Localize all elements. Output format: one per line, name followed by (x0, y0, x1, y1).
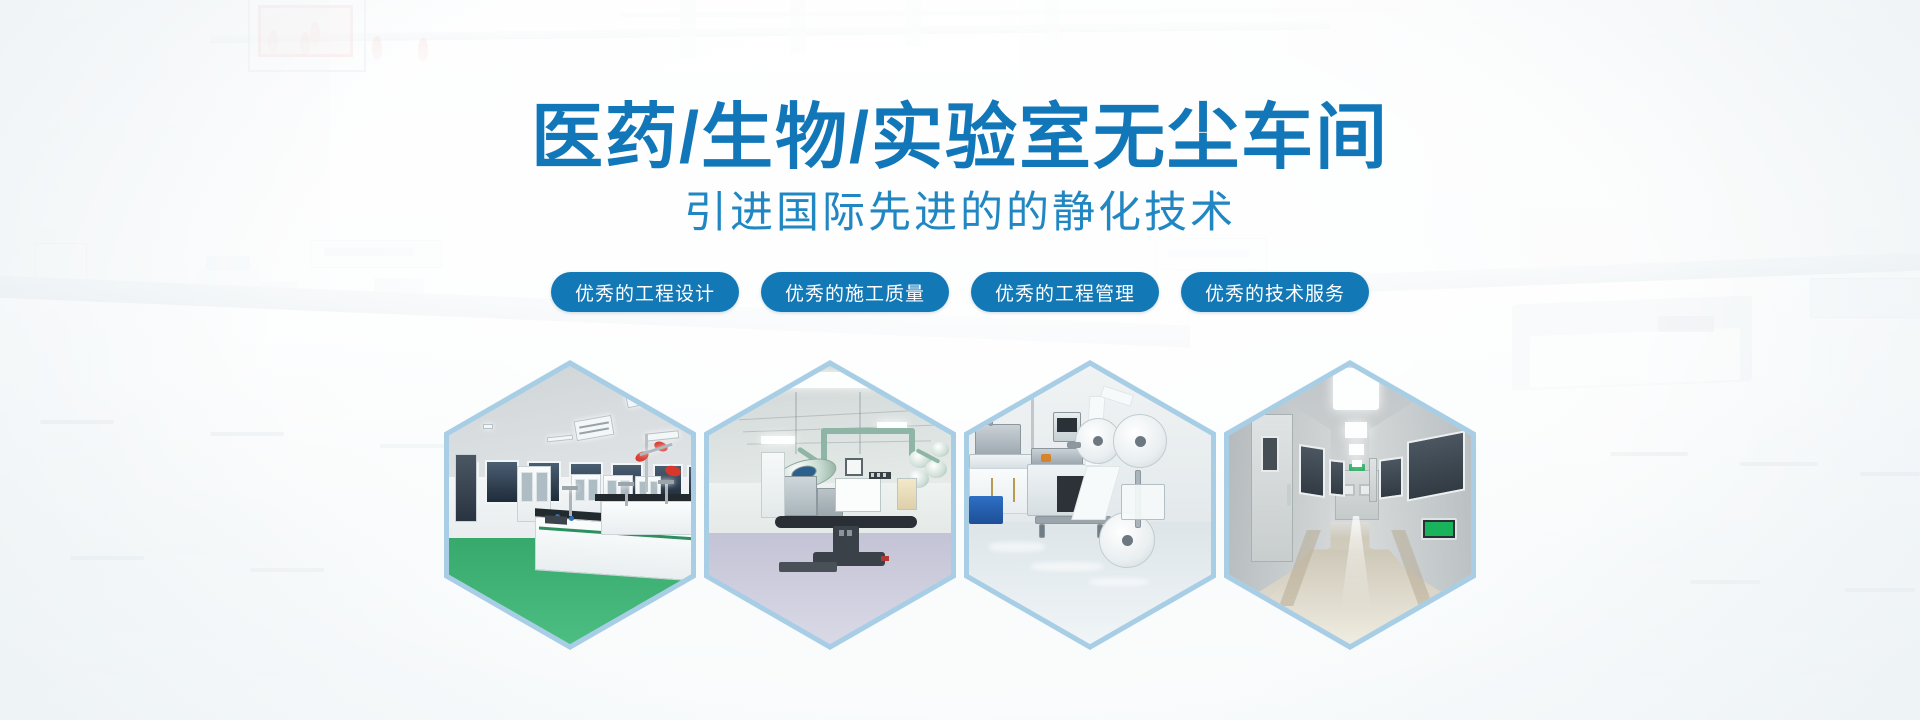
hex-image-clean-corridor[interactable] (1224, 360, 1476, 650)
hexagon-gallery (0, 360, 1920, 650)
hex-image-production-workshop[interactable] (964, 360, 1216, 650)
hex-image-operating-room[interactable] (704, 360, 956, 650)
badge-project-management[interactable]: 优秀的工程管理 (971, 272, 1159, 312)
badge-construction-quality[interactable]: 优秀的施工质量 (761, 272, 949, 312)
hero-banner: 医药/生物/实验室无尘车间 引进国际先进的的静化技术 优秀的工程设计 优秀的施工… (0, 0, 1920, 720)
hex-photo-laboratory (449, 366, 691, 644)
page-subtitle: 引进国际先进的的静化技术 (0, 178, 1920, 240)
hex-image-laboratory[interactable] (444, 360, 696, 650)
feature-badge-list: 优秀的工程设计 优秀的施工质量 优秀的工程管理 优秀的技术服务 (0, 272, 1920, 312)
hex-photo-production-workshop (969, 366, 1211, 644)
hex-photo-clean-corridor (1229, 366, 1471, 644)
hex-photo-operating-room (709, 366, 951, 644)
badge-technical-service[interactable]: 优秀的技术服务 (1181, 272, 1369, 312)
badge-engineering-design[interactable]: 优秀的工程设计 (551, 272, 739, 312)
page-title: 医药/生物/实验室无尘车间 (0, 78, 1920, 183)
